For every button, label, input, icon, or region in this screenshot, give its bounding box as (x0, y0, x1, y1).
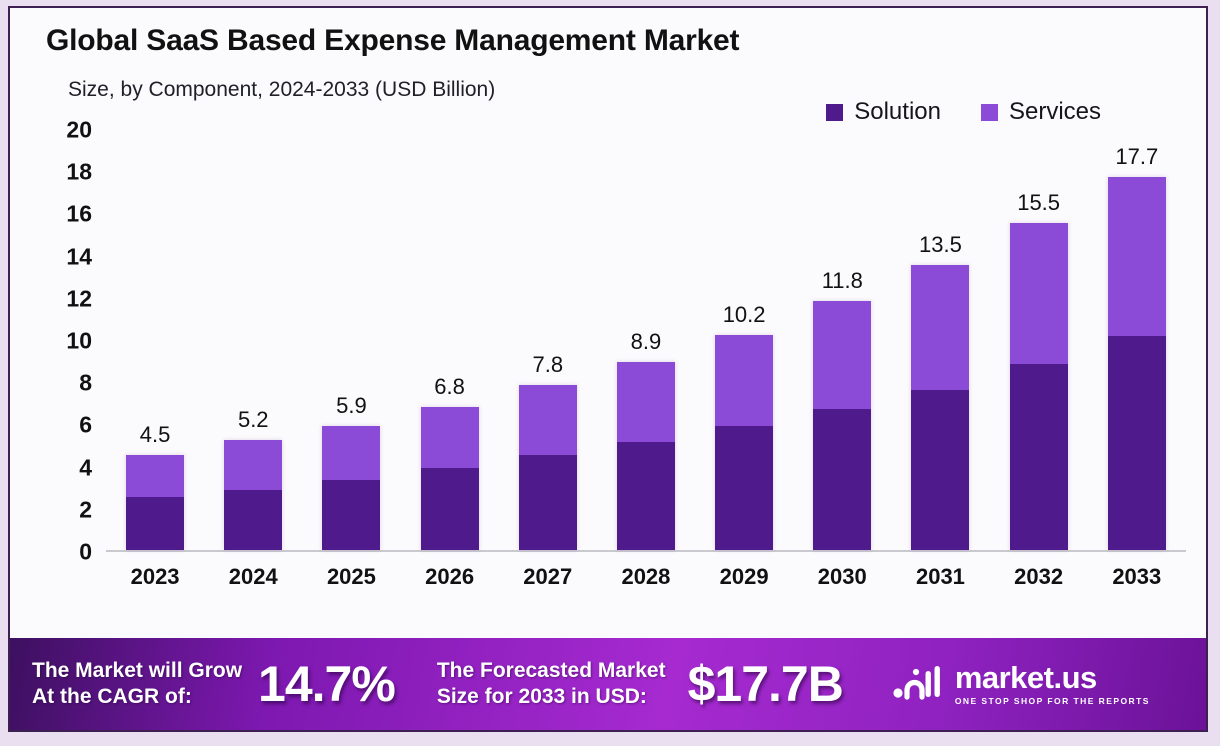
y-tick-label: 20 (66, 117, 92, 144)
bar-segment-services[interactable] (224, 440, 282, 490)
bar-total-label: 13.5 (919, 232, 962, 258)
bar-total-label: 5.9 (336, 393, 367, 419)
y-tick-label: 2 (79, 496, 92, 523)
x-axis-labels: 2023202420252026202720282029203020312032… (106, 564, 1186, 590)
legend-item-services[interactable]: Services (981, 98, 1101, 126)
bar-segment-services[interactable] (519, 385, 577, 455)
y-tick-label: 12 (66, 285, 92, 312)
forecast-block: The Forecasted Market Size for 2033 in U… (395, 655, 843, 713)
x-tick-label-2027: 2027 (519, 564, 577, 590)
bar-segment-services[interactable] (715, 335, 773, 426)
legend-label: Services (1009, 98, 1101, 126)
bar-group-2032[interactable]: 15.5 (1010, 130, 1068, 550)
stacked-bar[interactable] (224, 440, 282, 550)
bar-segment-services[interactable] (322, 426, 380, 481)
bar-segment-services[interactable] (421, 407, 479, 468)
bar-group-2027[interactable]: 7.8 (519, 130, 577, 550)
forecast-label-line1: The Forecasted Market (437, 658, 666, 684)
bar-total-label: 10.2 (723, 302, 766, 328)
x-tick-label-2032: 2032 (1010, 564, 1068, 590)
bar-group-2024[interactable]: 5.2 (224, 130, 282, 550)
bar-segment-solution[interactable] (617, 442, 675, 550)
stacked-bar[interactable] (617, 362, 675, 550)
x-tick-label-2026: 2026 (421, 564, 479, 590)
cagr-label: The Market will Grow At the CAGR of: (32, 658, 242, 709)
market-us-logo[interactable]: market.us ONE STOP SHOP FOR THE REPORTS (891, 662, 1150, 707)
y-tick-label: 6 (79, 412, 92, 439)
bar-group-2031[interactable]: 13.5 (911, 130, 969, 550)
bar-group-2026[interactable]: 6.8 (421, 130, 479, 550)
x-tick-label-2025: 2025 (322, 564, 380, 590)
bar-segment-services[interactable] (126, 455, 184, 497)
bar-group-2033[interactable]: 17.7 (1108, 130, 1166, 550)
y-tick-label: 4 (79, 454, 92, 481)
x-tick-label-2033: 2033 (1108, 564, 1166, 590)
bar-total-label: 11.8 (822, 268, 863, 294)
stacked-bar[interactable] (421, 407, 479, 550)
y-tick-label: 16 (66, 201, 92, 228)
stacked-bar[interactable] (715, 335, 773, 550)
market-us-mark-icon (891, 662, 943, 707)
bar-segment-solution[interactable] (1108, 336, 1166, 550)
bar-group-2028[interactable]: 8.9 (617, 130, 675, 550)
bar-segment-services[interactable] (1108, 177, 1166, 336)
logo-name: market.us (955, 662, 1150, 693)
stacked-bar[interactable] (126, 455, 184, 550)
plot-area: 02468101214161820 4.55.25.96.87.88.910.2… (106, 130, 1186, 552)
bar-segment-services[interactable] (813, 301, 871, 409)
forecast-label: The Forecasted Market Size for 2033 in U… (437, 658, 666, 709)
x-tick-label-2028: 2028 (617, 564, 675, 590)
forecast-label-line2: Size for 2033 in USD: (437, 684, 666, 710)
bar-segment-solution[interactable] (715, 426, 773, 550)
cagr-label-line1: The Market will Grow (32, 658, 242, 684)
stacked-bar[interactable] (322, 426, 380, 550)
bar-segment-solution[interactable] (1010, 364, 1068, 550)
bar-segment-solution[interactable] (911, 390, 969, 550)
stacked-bar[interactable] (519, 385, 577, 550)
bar-segment-solution[interactable] (519, 455, 577, 550)
stacked-bar[interactable] (1108, 177, 1166, 550)
x-tick-label-2024: 2024 (224, 564, 282, 590)
bar-segment-solution[interactable] (813, 409, 871, 550)
y-tick-label: 10 (66, 328, 92, 355)
logo-text-group: market.us ONE STOP SHOP FOR THE REPORTS (955, 662, 1150, 706)
page-title: Global SaaS Based Expense Management Mar… (46, 24, 739, 58)
x-tick-label-2023: 2023 (126, 564, 184, 590)
bar-total-label: 5.2 (238, 407, 269, 433)
bar-total-label: 6.8 (434, 374, 465, 400)
y-tick-label: 8 (79, 370, 92, 397)
bar-group-2023[interactable]: 4.5 (126, 130, 184, 550)
cagr-label-line2: At the CAGR of: (32, 684, 242, 710)
stacked-bar[interactable] (813, 301, 871, 550)
cagr-value: 14.7% (258, 655, 395, 713)
bar-segment-services[interactable] (617, 362, 675, 442)
y-tick-label: 0 (79, 539, 92, 566)
bar-segment-services[interactable] (1010, 223, 1068, 364)
bar-segment-solution[interactable] (224, 490, 282, 550)
bar-group-2030[interactable]: 11.8 (813, 130, 871, 550)
bar-segment-solution[interactable] (421, 468, 479, 550)
x-axis-line (106, 550, 1186, 552)
legend-swatch-solution-icon (826, 104, 843, 121)
legend-label: Solution (854, 98, 941, 126)
bar-total-label: 4.5 (140, 422, 171, 448)
cagr-block: The Market will Grow At the CAGR of: 14.… (10, 655, 395, 713)
stacked-bar[interactable] (911, 265, 969, 550)
bar-total-label: 15.5 (1017, 190, 1060, 216)
bar-segment-solution[interactable] (126, 497, 184, 550)
legend-swatch-services-icon (981, 104, 998, 121)
chart-card: Global SaaS Based Expense Management Mar… (8, 6, 1208, 732)
bar-group-2029[interactable]: 10.2 (715, 130, 773, 550)
logo-tagline: ONE STOP SHOP FOR THE REPORTS (955, 697, 1150, 706)
chart-subtitle: Size, by Component, 2024-2033 (USD Billi… (68, 78, 495, 102)
bar-total-label: 17.7 (1115, 144, 1158, 170)
y-tick-label: 18 (66, 159, 92, 186)
bar-total-label: 7.8 (532, 352, 563, 378)
forecast-value: $17.7B (688, 655, 843, 713)
summary-banner: The Market will Grow At the CAGR of: 14.… (10, 638, 1206, 730)
y-tick-label: 14 (66, 243, 92, 270)
legend-item-solution[interactable]: Solution (826, 98, 941, 126)
bar-segment-solution[interactable] (322, 480, 380, 550)
stacked-bar[interactable] (1010, 223, 1068, 550)
x-tick-label-2030: 2030 (813, 564, 871, 590)
bar-series-container: 4.55.25.96.87.88.910.211.813.515.517.7 (106, 130, 1186, 550)
bar-segment-services[interactable] (911, 265, 969, 389)
x-tick-label-2031: 2031 (911, 564, 969, 590)
bar-group-2025[interactable]: 5.9 (322, 130, 380, 550)
chart-legend: SolutionServices (826, 98, 1101, 126)
x-tick-label-2029: 2029 (715, 564, 773, 590)
bar-total-label: 8.9 (631, 329, 662, 355)
